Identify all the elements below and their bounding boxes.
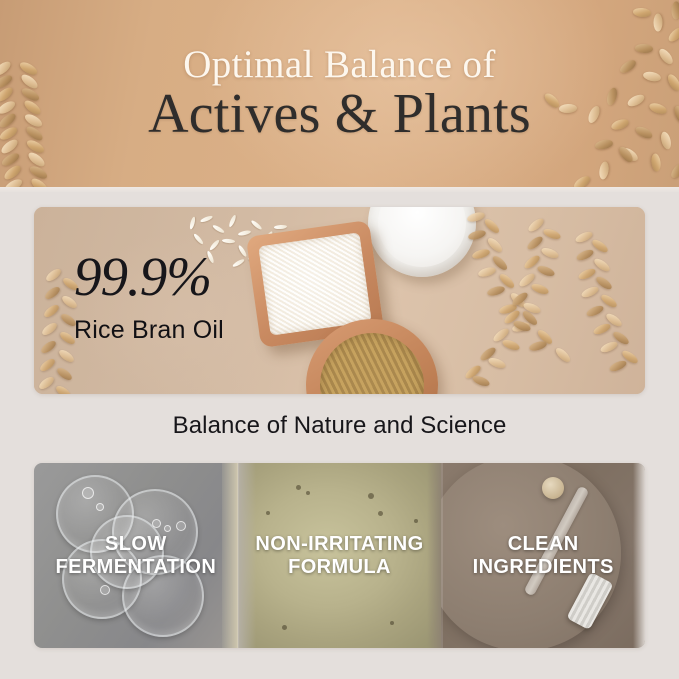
feature-panel-non-irritating-formula[interactable]: NON-IRRITATING FORMULA [238,463,442,648]
feature-label-line1: CLEAN [473,533,614,555]
rice-plant-grain-icon [577,266,597,281]
feature-label-line1: NON-IRRITATING [255,533,423,555]
bubble-icon [152,519,161,528]
rice-plant-grain-icon [540,246,560,260]
feature-label-line2: INGREDIENTS [473,556,614,578]
feature-label-line2: FERMENTATION [55,556,216,578]
panel-seam [441,463,443,648]
rice-plant-grain-icon [487,356,507,370]
feature-panel-group: SLOW FERMENTATION NON-IRRITATING FORMULA [34,463,645,648]
rice-grain-icon [250,219,263,230]
feature-label-line1: SLOW [55,533,216,555]
rice-plant-grain-icon [37,375,55,391]
speck-icon [414,519,418,523]
header-banner: Optimal Balance of Actives & Plants [0,0,679,187]
speck-icon [282,625,287,630]
rice-plant-grain-icon [478,266,498,279]
panel3-right-edge [633,463,645,648]
hero-card: 99.9% Rice Bran Oil [34,207,645,394]
hero-text-group: 99.9% Rice Bran Oil [74,249,224,343]
rice-grain-icon [228,214,237,228]
speck-icon [390,621,394,625]
panel-seam [237,463,239,648]
rice-grain-icon [237,244,247,257]
bubble-icon [176,521,186,531]
speck-icon [378,511,383,516]
rice-plant-grain-icon [536,264,556,278]
rice-plant-grain-icon [467,229,487,242]
rice-plant-stalks-right [415,207,645,394]
rice-plant-grain-icon [486,284,506,297]
rice-grain-icon [274,225,287,230]
bubble-icon [164,525,171,532]
rice-plant-grain-icon [38,357,56,373]
panel1-right-edge [222,463,238,648]
rice-plant-grain-icon [599,340,619,355]
rice-plant-grain-icon [608,358,628,373]
header-title-group: Optimal Balance of Actives & Plants [0,0,679,187]
feature-panel-slow-fermentation[interactable]: SLOW FERMENTATION [34,463,238,648]
rice-plant-grain-icon [574,230,594,245]
speck-icon [306,491,310,495]
feature-panel-label: NON-IRRITATING FORMULA [249,533,429,578]
rice-grain-icon [238,230,252,237]
rice-plant-grain-icon [585,303,605,318]
rice-plant-grain-icon [554,346,573,364]
speck-icon [368,493,374,499]
rice-plant-grain-icon [466,211,486,224]
rice-plant-grain-icon [54,384,72,394]
hero-subtitle: Rice Bran Oil [74,318,224,343]
feature-panel-label: CLEAN INGREDIENTS [467,533,620,578]
rice-plant-grain-icon [57,348,75,364]
rice-plant-grain-icon [501,338,521,352]
rice-plant-grain-icon [542,227,562,241]
rice-plant-grain-icon [592,322,612,337]
rice-plant-grain-icon [56,366,74,382]
feature-label-line2: FORMULA [255,556,423,578]
rice-grain-icon [200,215,214,224]
speck-icon [266,511,270,515]
section-caption: Balance of Nature and Science [0,412,679,440]
rice-grain-icon [189,216,196,230]
rice-plant-grain-icon [471,374,491,388]
rice-plant-grain-icon [530,282,550,296]
speck-icon [296,485,301,490]
page-title-line2: Actives & Plants [148,86,531,142]
bubble-icon [96,503,104,511]
page-title-line1: Optimal Balance of [183,45,496,85]
rice-plant-grain-icon [44,267,62,283]
rice-grain-icon [193,233,205,245]
feature-panel-label: SLOW FERMENTATION [49,533,222,578]
rice-plant-grain-icon [471,247,491,260]
rice-plant-grain-icon [528,339,548,352]
rice-plant-grain-icon [39,339,57,355]
product-infographic: Optimal Balance of Actives & Plants 99.9… [0,0,679,679]
rice-grain-icon [222,238,235,243]
rice-plant-grain-icon [580,285,600,300]
rice-plant-grain-icon [43,285,61,301]
bubble-icon [100,585,110,595]
header-divider [0,187,679,192]
feature-panel-clean-ingredients[interactable]: CLEAN INGREDIENTS [441,463,645,648]
rice-grain-icon [212,224,225,234]
rice-plant-grain-icon [42,303,60,319]
rice-plant-grain-icon [41,321,59,337]
bubble-icon [82,487,94,499]
rice-plant-grain-icon [575,248,595,263]
hero-percentage: 99.9% [74,249,224,304]
